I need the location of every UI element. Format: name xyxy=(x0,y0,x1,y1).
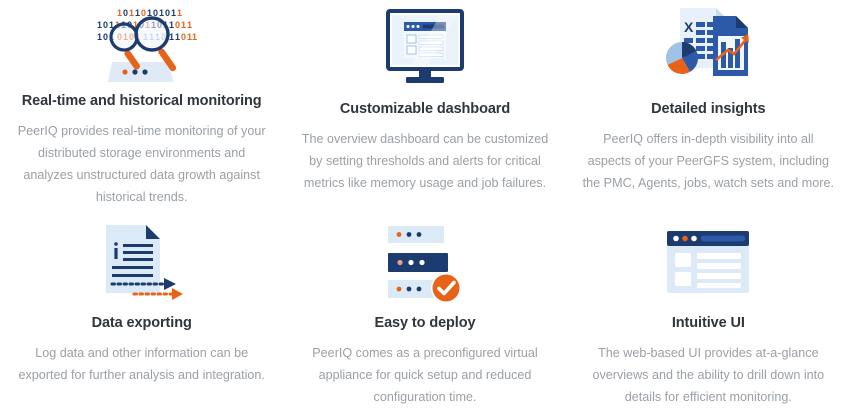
svg-text:0: 0 xyxy=(181,32,186,42)
feature-description: PeerIQ offers in-depth visibility into a… xyxy=(581,128,836,194)
feature-description: The web-based UI provides at-a-glance ov… xyxy=(581,342,836,408)
document-export-arrow-icon xyxy=(94,220,190,306)
svg-text:1: 1 xyxy=(192,32,197,42)
svg-text:0: 0 xyxy=(123,8,128,18)
feature-title: Easy to deploy xyxy=(375,315,476,331)
feature-card-real-time-monitoring: 10 11 01 01 01 1 10 11 10 10 11 01 10 11… xyxy=(0,0,283,206)
svg-text:X: X xyxy=(684,19,694,35)
svg-text:1: 1 xyxy=(169,32,174,42)
feature-card-intuitive-ui: Intuitive UI The web-based UI provides a… xyxy=(567,206,850,413)
svg-text:1: 1 xyxy=(97,20,102,30)
svg-text:0: 0 xyxy=(103,20,108,30)
svg-text:1: 1 xyxy=(97,32,102,42)
feature-card-easy-to-deploy: Easy to deploy PeerIQ comes as a preconf… xyxy=(283,206,566,413)
svg-text:1: 1 xyxy=(187,20,192,30)
binary-magnifier-icon: 10 11 01 01 01 1 10 11 10 10 11 01 10 11… xyxy=(87,4,197,84)
feature-description: The overview dashboard can be customized… xyxy=(297,128,552,194)
browser-window-ui-svg xyxy=(663,227,753,299)
svg-text:1: 1 xyxy=(159,8,164,18)
svg-text:1: 1 xyxy=(175,32,180,42)
svg-text:1: 1 xyxy=(171,8,176,18)
binary-magnifier-svg: 10 11 01 01 01 1 10 11 10 10 11 01 10 11… xyxy=(87,4,197,84)
server-stack-check-svg xyxy=(384,222,466,304)
server-stack-check-icon xyxy=(384,220,466,306)
feature-description: PeerIQ provides real-time monitoring of … xyxy=(14,120,269,208)
feature-title: Intuitive UI xyxy=(672,315,745,331)
monitor-dashboard-icon xyxy=(382,4,468,92)
svg-text:0: 0 xyxy=(141,8,146,18)
feature-title: Customizable dashboard xyxy=(340,101,510,117)
features-grid: 10 11 01 01 01 1 10 11 10 10 11 01 10 11… xyxy=(0,0,850,413)
browser-window-ui-icon xyxy=(663,220,753,306)
svg-text:1: 1 xyxy=(177,8,182,18)
svg-text:1: 1 xyxy=(181,20,186,30)
feature-description: Log data and other information can be ex… xyxy=(14,342,269,386)
monitor-dashboard-svg xyxy=(382,8,468,88)
svg-text:1: 1 xyxy=(117,8,122,18)
spreadsheet-charts-icon: X xyxy=(658,4,758,92)
feature-card-customizable-dashboard: Customizable dashboard The overview dash… xyxy=(283,0,566,206)
feature-title: Detailed insights xyxy=(651,101,765,117)
feature-title: Data exporting xyxy=(92,315,192,331)
svg-text:1: 1 xyxy=(135,8,140,18)
svg-text:1: 1 xyxy=(129,8,134,18)
spreadsheet-charts-svg: X xyxy=(658,6,758,90)
feature-card-detailed-insights: X xyxy=(567,0,850,206)
svg-text:1: 1 xyxy=(169,20,174,30)
svg-text:0: 0 xyxy=(165,8,170,18)
svg-text:0: 0 xyxy=(103,32,108,42)
feature-title: Real-time and historical monitoring xyxy=(22,93,262,109)
feature-card-data-exporting: Data exporting Log data and other inform… xyxy=(0,206,283,413)
document-export-arrow-svg xyxy=(94,221,190,305)
svg-text:0: 0 xyxy=(175,20,180,30)
feature-description: PeerIQ comes as a preconfigured virtual … xyxy=(297,342,552,408)
